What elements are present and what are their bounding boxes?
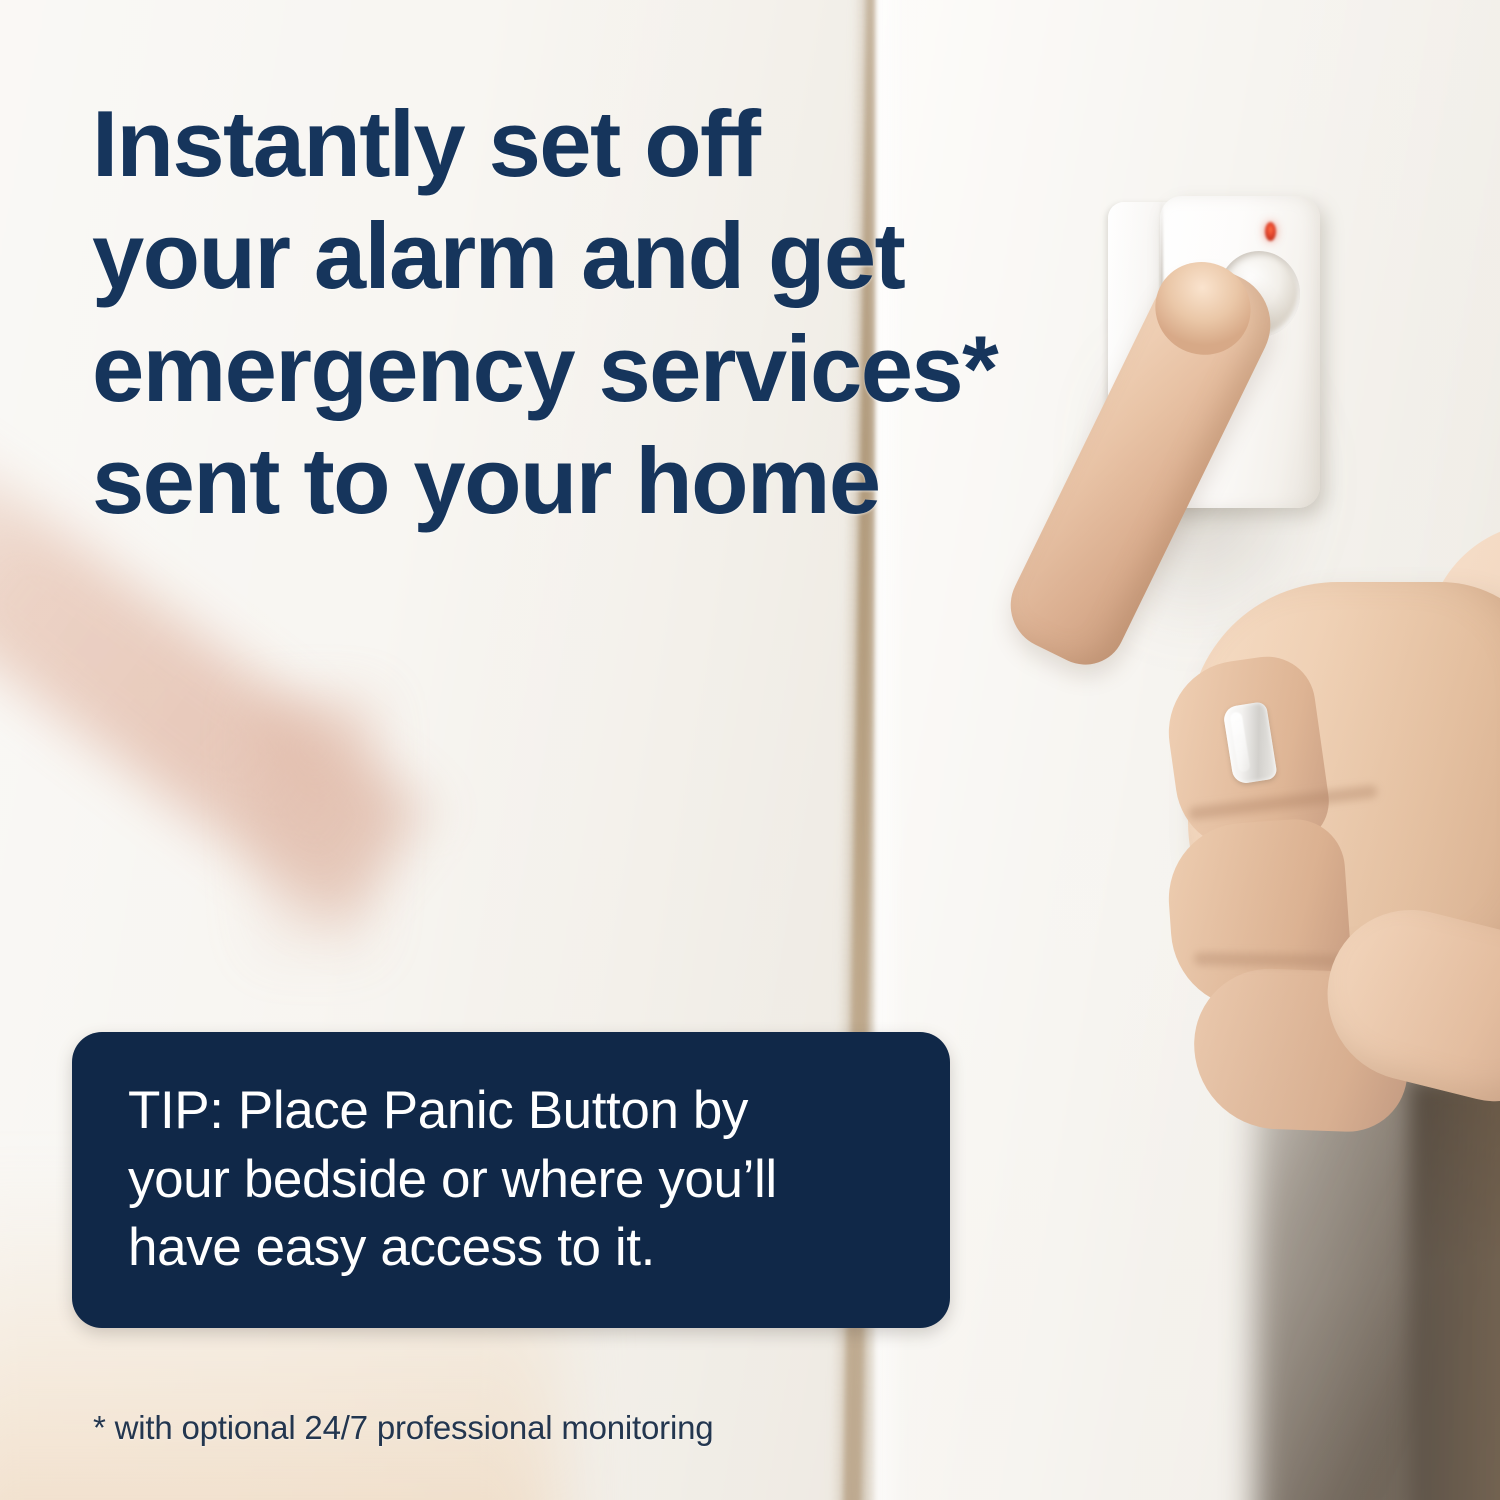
headline-line-1: Instantly set off bbox=[92, 88, 1102, 200]
tip-line-3: have easy access to it. bbox=[128, 1214, 777, 1283]
tip-callout-card: TIP: Place Panic Button by your bedside … bbox=[72, 1032, 950, 1328]
headline-line-2: your alarm and get bbox=[92, 200, 1102, 312]
headline-line-3: emergency services* bbox=[92, 313, 1102, 425]
tip-line-2: your bedside or where you’ll bbox=[128, 1146, 777, 1215]
hand-pressing-button bbox=[1150, 230, 1500, 1160]
footnote-disclaimer: * with optional 24/7 professional monito… bbox=[93, 1409, 713, 1447]
page-headline: Instantly set off your alarm and get eme… bbox=[92, 88, 1102, 537]
tip-callout-text: TIP: Place Panic Button by your bedside … bbox=[72, 1077, 833, 1284]
tip-line-1: TIP: Place Panic Button by bbox=[128, 1077, 777, 1146]
headline-line-4: sent to your home bbox=[92, 425, 1102, 537]
blurred-furniture-leg bbox=[255, 700, 375, 960]
